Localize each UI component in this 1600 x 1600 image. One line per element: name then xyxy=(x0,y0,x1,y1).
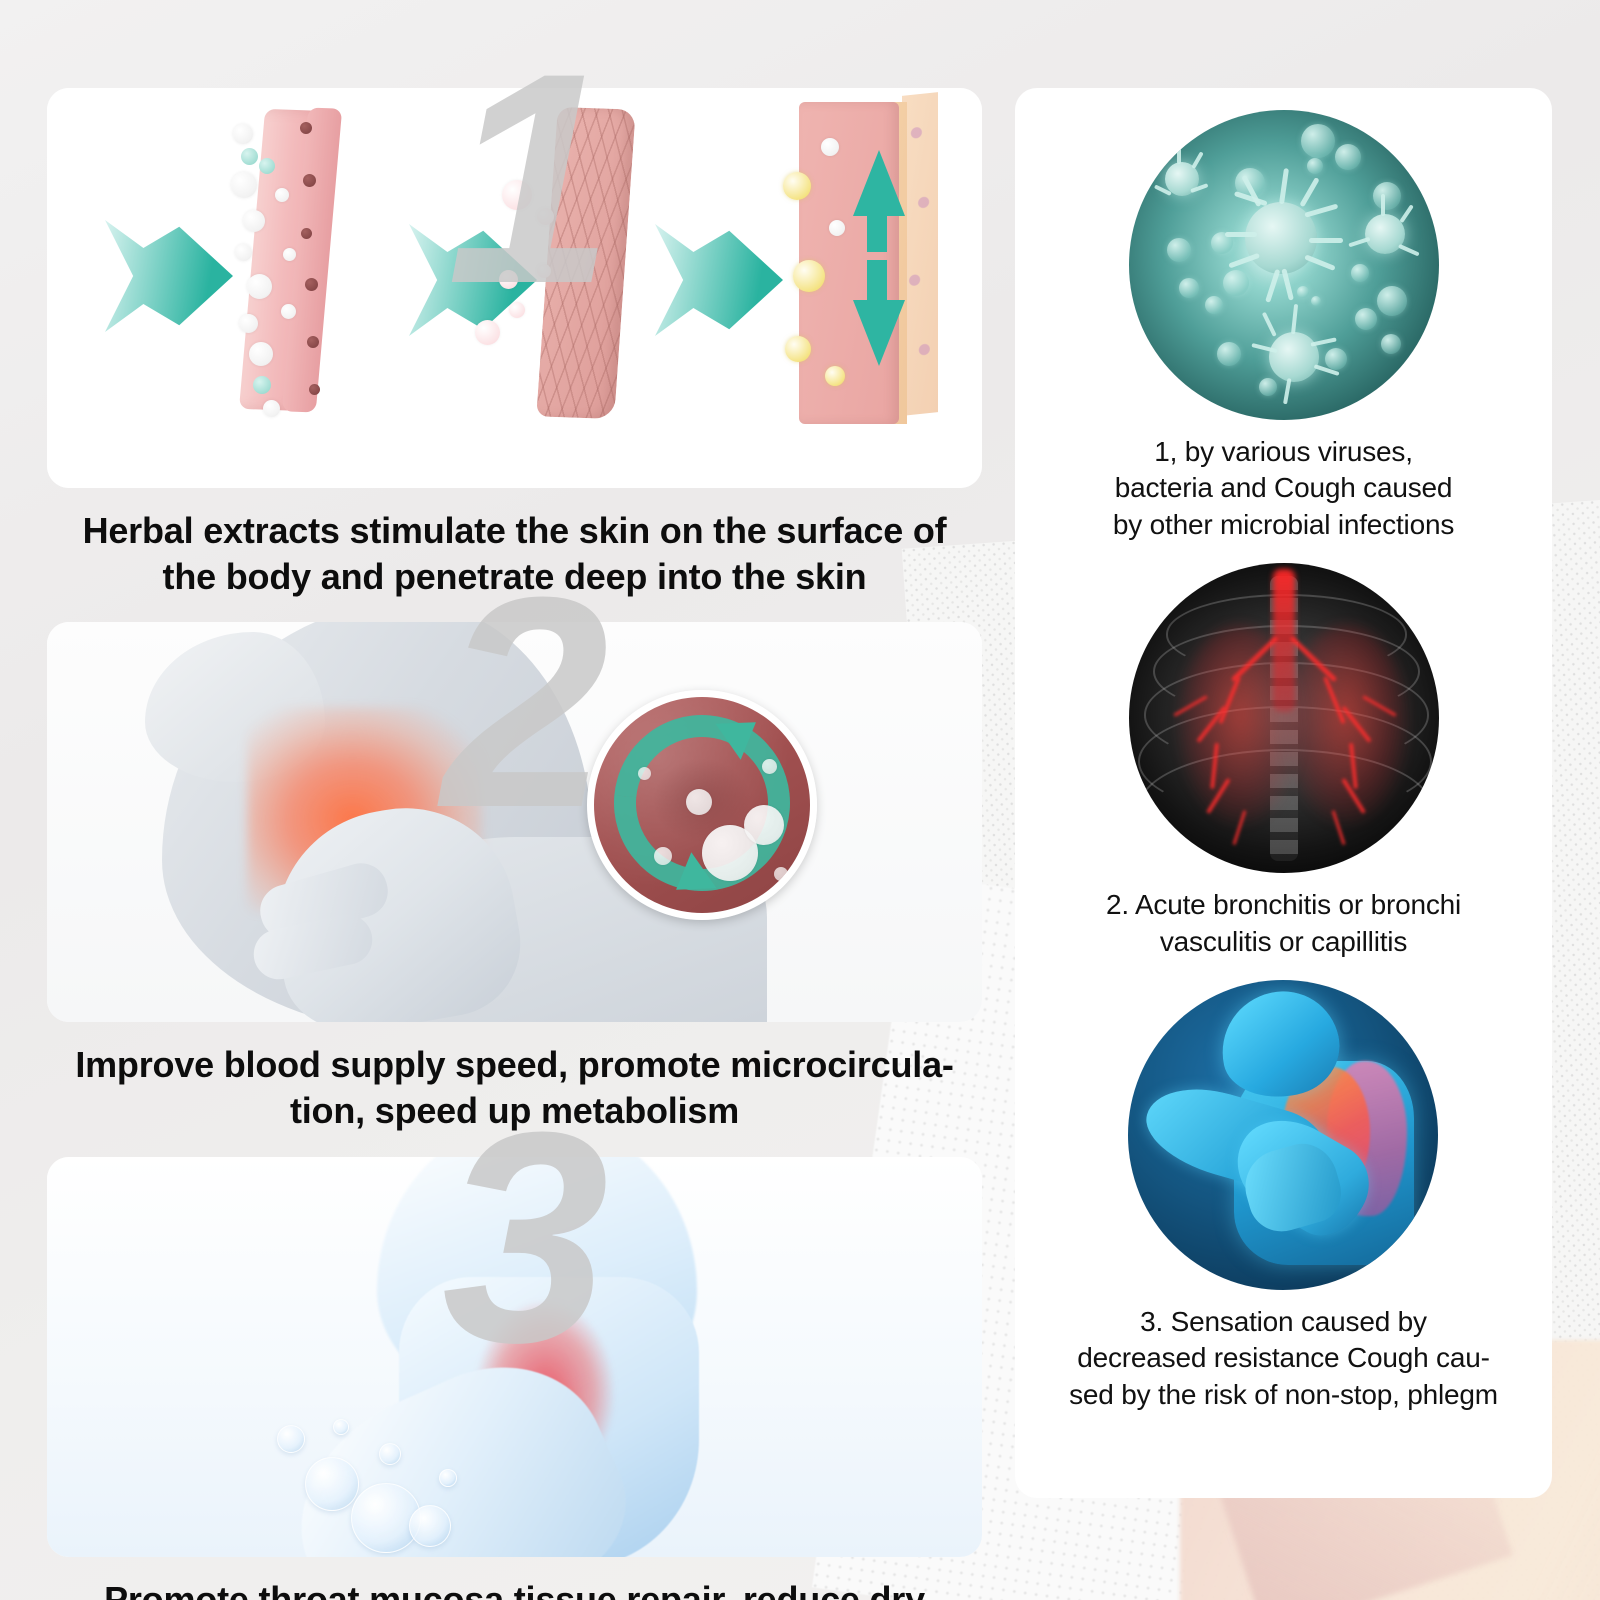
benefit-caption-3: Promote throat mucosa tissue repair, red… xyxy=(47,1557,982,1600)
virus-bacteria-circle-image xyxy=(1129,110,1439,420)
cause-caption-1-line3: by other microbial infections xyxy=(1113,507,1454,543)
chest-pain-anatomy-circle-image xyxy=(1128,980,1438,1290)
cause-card: 1, by various viruses, bacteria and Coug… xyxy=(1015,88,1552,1498)
cause-caption-3-line3: sed by the risk of non-stop, phlegm xyxy=(1069,1377,1498,1413)
benefit-caption-2: Improve blood supply speed, promote micr… xyxy=(47,1022,982,1133)
lung-xray-bronchitis-circle-image xyxy=(1129,563,1439,873)
cause-caption-2-line2: vasculitis or capillitis xyxy=(1106,924,1461,960)
benefit-block-1: 1 xyxy=(47,88,982,599)
benefit-caption-1-line2: the body and penetrate deep into the ski… xyxy=(53,554,976,600)
circulation-arrow-down xyxy=(853,300,905,366)
muscle-tissue-strip xyxy=(536,107,636,419)
benefit-caption-1-line1: Herbal extracts stimulate the skin on th… xyxy=(53,508,976,554)
cause-caption-3-line2: decreased resistance Cough cau- xyxy=(1069,1340,1498,1376)
benefit-image-card-3 xyxy=(47,1157,982,1557)
cause-item-2: 2. Acute bronchitis or bronchi vasculiti… xyxy=(1106,563,1461,960)
cause-caption-1-line1: 1, by various viruses, xyxy=(1113,434,1454,470)
cause-item-1: 1, by various viruses, bacteria and Coug… xyxy=(1113,110,1454,543)
cause-caption-3-line1: 3. Sensation caused by xyxy=(1069,1304,1498,1340)
penetration-arrow-1 xyxy=(105,220,233,332)
lung-inflammation-right xyxy=(1284,625,1408,823)
benefit-block-2: 2 xyxy=(47,622,982,1133)
right-column: 1, by various viruses, bacteria and Coug… xyxy=(1015,88,1552,1600)
cause-item-3: 3. Sensation caused by decreased resista… xyxy=(1069,980,1498,1413)
cause-caption-2: 2. Acute bronchitis or bronchi vasculiti… xyxy=(1106,887,1461,960)
vessel-cross-section xyxy=(902,92,938,416)
left-column: 1 xyxy=(47,88,982,1600)
throat-blood-circulation-illustration xyxy=(47,622,982,1022)
penetration-arrow-3 xyxy=(655,224,783,336)
skin-penetration-diagram xyxy=(47,88,982,488)
throat-mucosa-repair-illustration xyxy=(47,1157,982,1557)
cause-caption-1: 1, by various viruses, bacteria and Coug… xyxy=(1113,434,1454,543)
cause-caption-1-line2: bacteria and Cough caused xyxy=(1113,470,1454,506)
circulation-arrow-down-stem xyxy=(867,260,887,306)
benefit-caption-2-line2: tion, speed up metabolism xyxy=(53,1088,976,1134)
mucosa-inset-circle xyxy=(587,690,817,920)
benefit-caption-2-line1: Improve blood supply speed, promote micr… xyxy=(53,1042,976,1088)
benefit-image-card-1 xyxy=(47,88,982,488)
infographic-root: 1 xyxy=(0,0,1600,1600)
inset-bubble-7 xyxy=(774,867,788,881)
cause-caption-2-line1: 2. Acute bronchitis or bronchi xyxy=(1106,887,1461,923)
benefit-block-3: 3 xyxy=(47,1157,982,1600)
cause-caption-3: 3. Sensation caused by decreased resista… xyxy=(1069,1304,1498,1413)
benefit-caption-1: Herbal extracts stimulate the skin on th… xyxy=(47,488,982,599)
benefit-image-card-2 xyxy=(47,622,982,1022)
benefit-caption-3-line1: Promote throat mucosa tissue repair, red… xyxy=(53,1577,976,1600)
circulation-arrow-up-stem xyxy=(867,206,887,252)
